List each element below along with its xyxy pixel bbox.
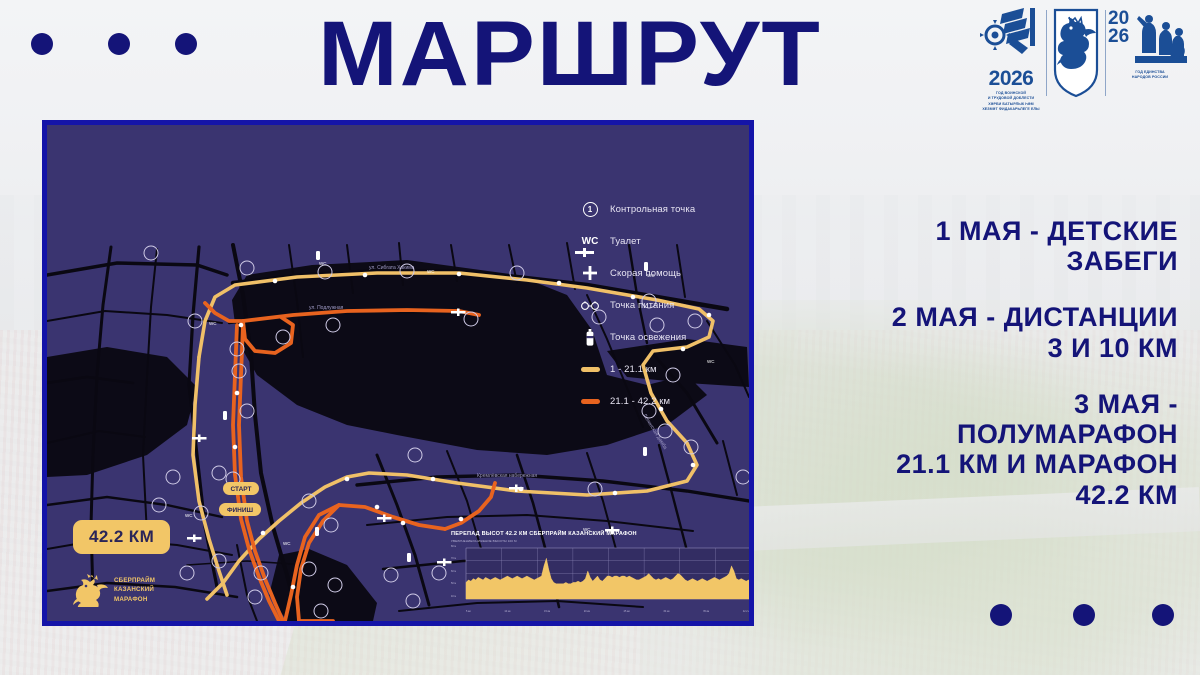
anniversary-logo-bar: 2026 ГОД ВОИНСКОЙ И ТРУДОВОЙ ДОБЛЕСТИ ХӘ…: [978, 4, 1192, 104]
decor-dot-2: [108, 33, 130, 55]
unity-monument-icon: [1135, 10, 1187, 68]
elevation-y-tick: 60 м: [451, 571, 465, 573]
elevation-y-tick: 50 м: [451, 583, 465, 585]
finish-label: ФИНИШ: [227, 507, 254, 514]
distance-badge: 42.2 КМ: [73, 520, 170, 554]
unity-caption: ГОД ЕДИНСТВА НАРОДОВ РОССИИ: [1108, 70, 1192, 81]
logo-divider-2: [1105, 10, 1106, 96]
map-legend: 1 Контрольная точка WC Туалет Скорая пом…: [579, 193, 744, 417]
logo-divider-1: [1046, 10, 1047, 96]
svg-text:ул. Подлужная: ул. Подлужная: [309, 305, 344, 311]
elevation-y-tick: 40 м: [451, 596, 465, 598]
elevation-x-tick: 25 км: [624, 611, 630, 613]
svg-text:WC: WC: [185, 513, 193, 518]
marathon-logo-line1: СБЕРПРАЙМ: [114, 576, 155, 585]
legend-label-route-half: 1 - 21.1 км: [610, 364, 657, 375]
legend-label-refreshment: Точка освежения: [610, 332, 686, 343]
valour-caption: ГОД ВОИНСКОЙ И ТРУДОВОЙ ДОБЛЕСТИ ХӘРБИ Б…: [978, 91, 1044, 113]
svg-text:Кремлёвская набережная: Кремлёвская набережная: [477, 473, 537, 479]
route-swatch-full-icon: [579, 399, 601, 404]
elevation-x-tick: 20 км: [584, 611, 590, 613]
elevation-x-tick: 35 км: [703, 611, 709, 613]
route-swatch-half-icon: [579, 367, 601, 372]
elevation-chart-svg: [451, 546, 751, 608]
kids-races-line-1: 1 МАЯ - ДЕТСКИЕ: [778, 216, 1178, 246]
elevation-x-tick: 5 км: [466, 611, 471, 613]
logo-year-of-valour: 2026 ГОД ВОИНСКОЙ И ТРУДОВОЙ ДОБЛЕСТИ ХӘ…: [978, 4, 1044, 104]
decor-dot-5: [1073, 604, 1095, 626]
elevation-subtitle: УВЕЛИЧЕНИЕ/СНИЖЕНИЕ ВЫСОТЫ 100 М: [451, 539, 751, 543]
legend-label-toilet: Туалет: [610, 236, 641, 247]
legend-item-food: Точка питания: [579, 289, 744, 321]
legend-label-ambulance: Скорая помощь: [610, 268, 681, 279]
legend-label-route-full: 21.1 - 42.2 км: [610, 396, 670, 407]
elevation-y-tick: 70 м: [451, 558, 465, 560]
water-bottle-icon: [579, 329, 601, 346]
decor-dot-6: [1152, 604, 1174, 626]
marathon-logo-line3: МАРАФОН: [114, 595, 155, 604]
marathon-logo-text: СБЕРПРАЙМ КАЗАНСКИЙ МАРАФОН: [114, 576, 155, 604]
elevation-x-tick: 10 км: [504, 611, 510, 613]
wc-icon: WC: [579, 236, 601, 247]
schedule-item-kids-races: 1 МАЯ - ДЕТСКИЕ ЗАБЕГИ: [778, 216, 1178, 276]
marathon-line-1: 3 МАЯ -: [778, 389, 1178, 419]
legend-item-refreshment: Точка освежения: [579, 321, 744, 353]
decor-dot-4: [990, 604, 1012, 626]
decor-dot-1: [31, 33, 53, 55]
schedule-info-block: 1 МАЯ - ДЕТСКИЕ ЗАБЕГИ 2 МАЯ - ДИСТАНЦИИ…: [778, 216, 1178, 536]
marathon-line-4: 42.2 КМ: [778, 480, 1178, 510]
unity-year: 20 26: [1108, 10, 1132, 46]
logo-year-of-unity: 20 26 ГОД ЕДИНСТВА НАРОДОВ РОССИИ: [1108, 4, 1192, 104]
legend-label-food: Точка питания: [610, 300, 674, 311]
schedule-item-distances: 2 МАЯ - ДИСТАНЦИИ 3 И 10 КМ: [778, 302, 1178, 362]
elevation-y-ticks: 80 м70 м60 м50 м40 м: [451, 546, 465, 598]
start-label: СТАРТ: [230, 486, 251, 493]
marathon-line-2: ПОЛУМАРАФОН: [778, 419, 1178, 449]
logo-kazan-coat-of-arms: [1049, 4, 1103, 104]
checkpoint-icon: 1: [579, 202, 601, 217]
elevation-y-tick: 80 м: [451, 546, 465, 548]
elevation-profile: ПЕРЕПАД ВЫСОТ 42.2 КМ СБЕРПРАЙМ КАЗАНСКИ…: [451, 531, 751, 619]
zilant-gold-icon: [73, 573, 109, 607]
marathon-logo-line2: КАЗАНСКИЙ: [114, 585, 155, 594]
distances-line-1: 2 МАЯ - ДИСТАНЦИИ: [778, 302, 1178, 332]
decor-dot-3: [175, 33, 197, 55]
kids-races-line-2: ЗАБЕГИ: [778, 246, 1178, 276]
elevation-chart: 80 м70 м60 м50 м40 м 5 км10 км15 км20 км…: [451, 546, 751, 608]
elevation-title: ПЕРЕПАД ВЫСОТ 42.2 КМ СБЕРПРАЙМ КАЗАНСКИ…: [451, 531, 751, 537]
svg-text:ул. Сибгата Хакима: ул. Сибгата Хакима: [369, 265, 415, 271]
svg-text:WC: WC: [427, 269, 435, 274]
page-title: МАРШРУТ: [318, 6, 822, 103]
svg-text:WC: WC: [319, 261, 327, 266]
elevation-x-tick: 30 км: [663, 611, 669, 613]
marathon-line-3: 21.1 КМ И МАРАФОН: [778, 449, 1178, 479]
legend-item-ambulance: Скорая помощь: [579, 257, 744, 289]
legend-label-checkpoint: Контрольная точка: [610, 204, 695, 215]
zilant-dragon-icon: [1049, 4, 1103, 100]
elevation-x-tick: 15 км: [544, 611, 550, 613]
svg-text:WC: WC: [283, 541, 291, 546]
svg-text:WC: WC: [209, 321, 217, 326]
food-point-icon: [579, 300, 601, 311]
legend-item-route-half: 1 - 21.1 км: [579, 353, 744, 385]
route-map-panel[interactable]: ул. Сибгата Хакима ул. Подлужная Кремлёв…: [42, 120, 754, 626]
ambulance-cross-icon: [579, 266, 601, 280]
marathon-logo: СБЕРПРАЙМ КАЗАНСКИЙ МАРАФОН: [73, 573, 155, 607]
valour-year: 2026: [978, 67, 1044, 91]
elevation-x-tick: 42.2 км: [743, 611, 751, 613]
schedule-item-marathon: 3 МАЯ - ПОЛУМАРАФОН 21.1 КМ И МАРАФОН 42…: [778, 389, 1178, 510]
elevation-x-ticks: 5 км10 км15 км20 км25 км30 км35 км42.2 к…: [466, 611, 751, 613]
legend-item-checkpoint: 1 Контрольная точка: [579, 193, 744, 225]
valour-star-icon: [978, 4, 1044, 62]
distances-line-2: 3 И 10 КМ: [778, 333, 1178, 363]
legend-item-toilet: WC Туалет: [579, 225, 744, 257]
legend-item-route-full: 21.1 - 42.2 км: [579, 385, 744, 417]
